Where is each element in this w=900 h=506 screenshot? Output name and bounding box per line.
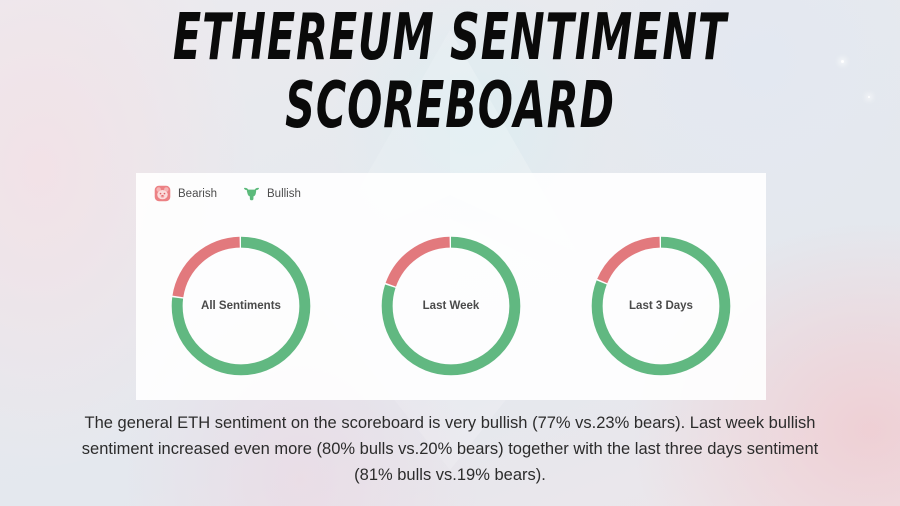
donut-center-label: Last 3 Days bbox=[585, 230, 737, 382]
bull-icon bbox=[243, 185, 260, 202]
title-line-1: ETHEREUM SENTIMENT bbox=[36, 8, 864, 69]
donut-chart-group: All Sentiments Last Week bbox=[136, 217, 766, 395]
donut-chart-all-sentiments: All Sentiments bbox=[165, 230, 317, 382]
legend-label-bearish: Bearish bbox=[178, 188, 217, 200]
donut-center-label: Last Week bbox=[375, 230, 527, 382]
title-line-2: SCOREBOARD bbox=[36, 76, 864, 137]
chart-legend: Bearish Bullish bbox=[154, 185, 301, 202]
donut-center-label: All Sentiments bbox=[165, 230, 317, 382]
page-title: ETHEREUM SENTIMENT SCOREBOARD bbox=[0, 8, 900, 119]
legend-label-bullish: Bullish bbox=[267, 188, 301, 200]
legend-item-bullish[interactable]: Bullish bbox=[243, 185, 301, 202]
scoreboard-card: Bearish Bullish bbox=[136, 173, 766, 400]
donut-chart-last-3-days: Last 3 Days bbox=[585, 230, 737, 382]
summary-paragraph: The general ETH sentiment on the scorebo… bbox=[62, 410, 838, 488]
poster-canvas: ETHEREUM SENTIMENT SCOREBOARD bbox=[0, 0, 900, 506]
bear-icon bbox=[154, 185, 171, 202]
donut-chart-last-week: Last Week bbox=[375, 230, 527, 382]
legend-item-bearish[interactable]: Bearish bbox=[154, 185, 217, 202]
